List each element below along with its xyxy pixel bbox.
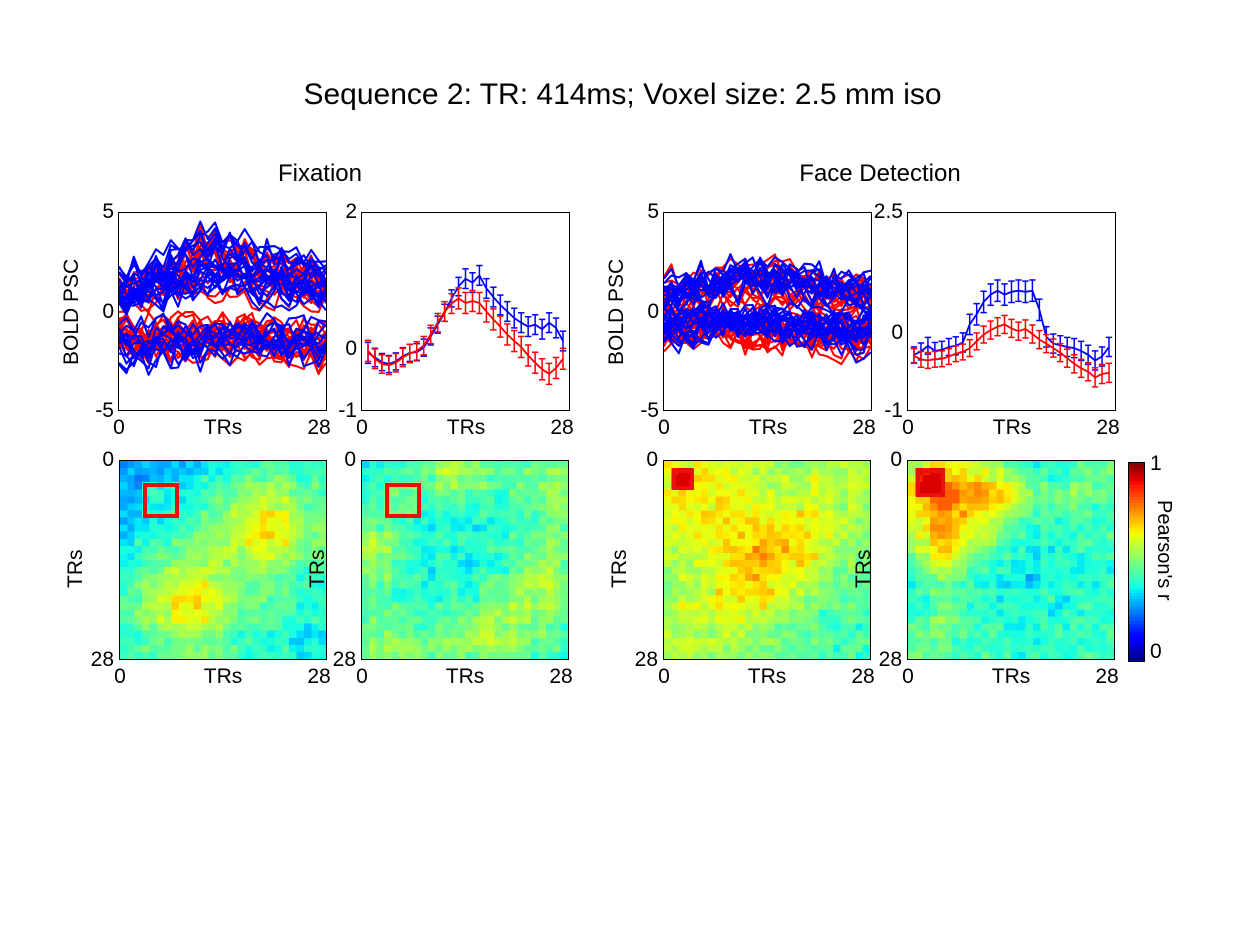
ylabel-trs-m3: TRs (852, 550, 876, 589)
heatmap-face-detection-corrmatrix-1 (663, 460, 871, 660)
xtick-min-p2: 0 (645, 416, 683, 440)
ylabel-bold-psc-p2: BOLD PSC (605, 259, 629, 365)
roi-box-fixation-corrmatrix-2 (385, 483, 422, 518)
ytick-max-p3: 2.5 (846, 200, 903, 224)
ylabel-trs-m0: TRs (64, 550, 88, 589)
xtick-min-p3: 0 (889, 416, 927, 440)
plot-area-face-detection-average (907, 212, 1116, 411)
colorbar-label: Pearson's r (1152, 500, 1175, 601)
xlabel-trs-m3: TRs (951, 665, 1071, 689)
xtick-max-m1: 28 (537, 665, 585, 689)
xtick-max-p1: 28 (538, 416, 586, 440)
figure-canvas: Sequence 2: TR: 414ms; Voxel size: 2.5 m… (0, 0, 1245, 937)
ytick-top-m2: 0 (622, 448, 658, 472)
ylabel-bold-psc-p0: BOLD PSC (60, 259, 84, 365)
xlabel-trs-p1: TRs (406, 416, 526, 440)
figure-title: Sequence 2: TR: 414ms; Voxel size: 2.5 m… (0, 78, 1245, 112)
plot-area-fixation-timeseries (118, 212, 327, 411)
colorbar-max-tick: 1 (1150, 452, 1162, 476)
xtick-max-m3: 28 (1083, 665, 1131, 689)
xtick-min-m1: 0 (343, 665, 381, 689)
xlabel-trs-p0: TRs (163, 416, 283, 440)
xlabel-trs-p3: TRs (952, 416, 1072, 440)
plot-area-face-detection-timeseries (663, 212, 872, 411)
ylabel-trs-m2: TRs (608, 550, 632, 589)
colorbar (1128, 462, 1145, 662)
ylabel-trs-m1: TRs (306, 550, 330, 589)
plot-area-fixation-average (361, 212, 570, 411)
roi-box-face-detection-corrmatrix-2 (916, 469, 945, 497)
ytick-max-p0: 5 (72, 200, 114, 224)
xtick-max-p3: 28 (1084, 416, 1132, 440)
xtick-min-p1: 0 (343, 416, 381, 440)
xlabel-trs-m2: TRs (707, 665, 827, 689)
colorbar-min-tick: 0 (1150, 640, 1162, 664)
ytick-mid-p1: 0 (318, 337, 357, 361)
xtick-min-p0: 0 (100, 416, 138, 440)
column-header-face-detection: Face Detection (730, 160, 1030, 188)
ytick-top-m1: 0 (320, 448, 356, 472)
ytick-top-m0: 0 (78, 448, 114, 472)
ytick-top-m3: 0 (866, 448, 902, 472)
xtick-min-m2: 0 (645, 665, 683, 689)
xtick-min-m0: 0 (101, 665, 139, 689)
xlabel-trs-m1: TRs (405, 665, 525, 689)
roi-box-face-detection-corrmatrix-1 (672, 469, 694, 490)
ytick-max-p2: 5 (617, 200, 659, 224)
xtick-min-m3: 0 (889, 665, 927, 689)
xlabel-trs-p2: TRs (708, 416, 828, 440)
roi-box-fixation-corrmatrix-1 (143, 483, 180, 518)
xlabel-trs-m0: TRs (163, 665, 283, 689)
ytick-max-p1: 2 (318, 200, 357, 224)
ytick-mid-p3: 0 (864, 321, 903, 345)
column-header-fixation: Fixation (170, 160, 470, 188)
